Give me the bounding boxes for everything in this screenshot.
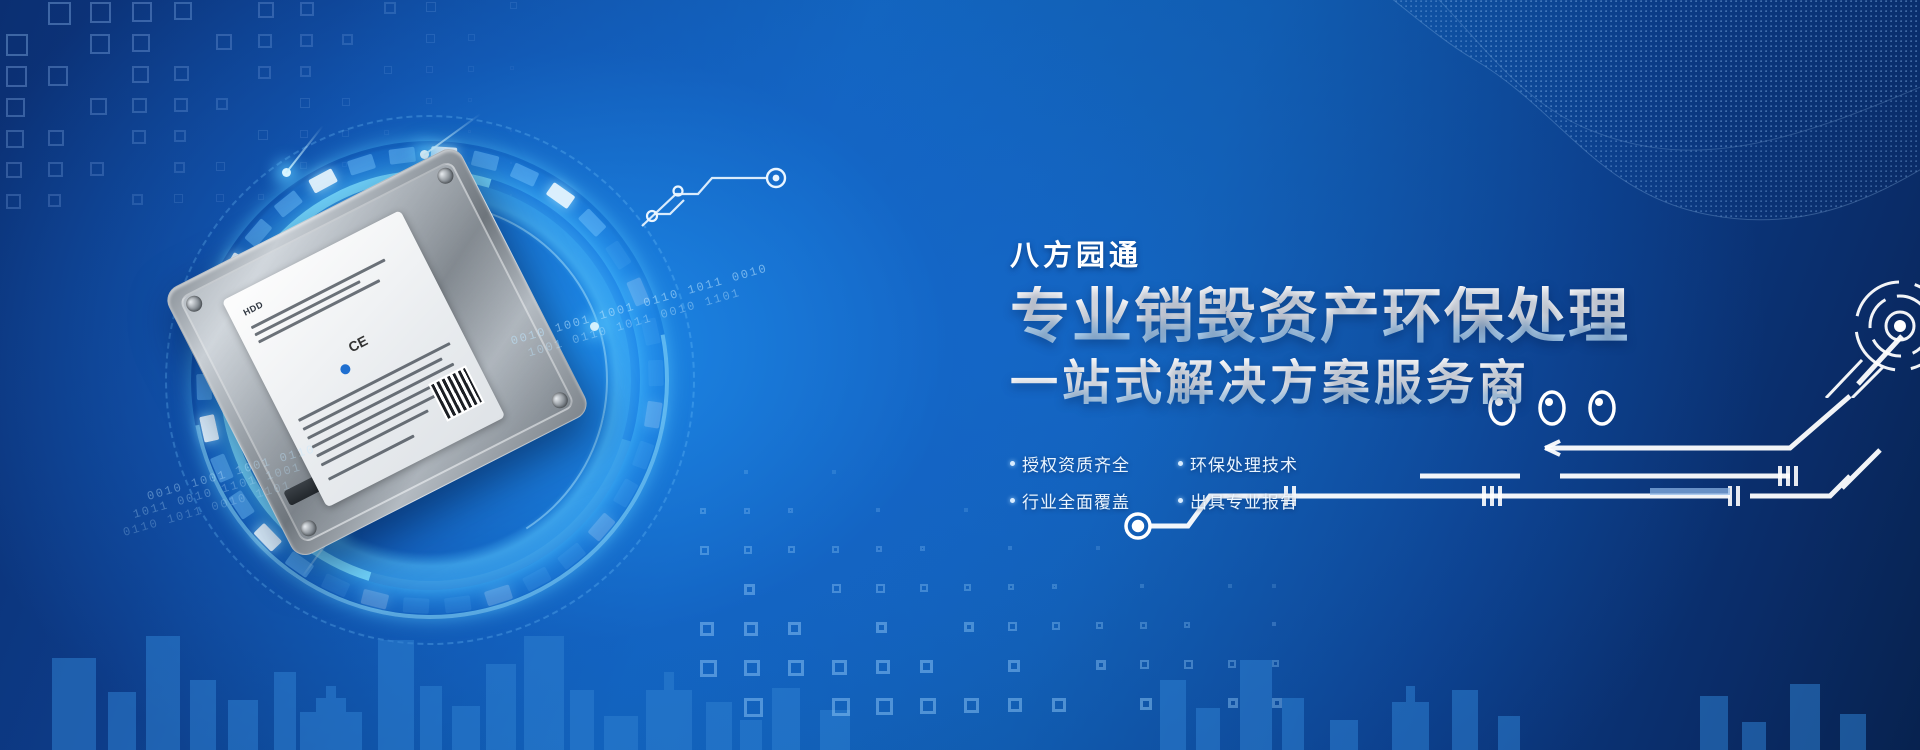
ring-tick xyxy=(648,360,664,386)
drive-label-brand: HDD xyxy=(242,299,265,317)
promo-banner: HDD CE 0010 1001 1001 0110 1011 0010 100… xyxy=(0,0,1920,750)
feature-label: 出具专业报告 xyxy=(1190,488,1298,513)
dot-tile xyxy=(1228,698,1238,708)
square-tile xyxy=(6,66,27,87)
dot-tile xyxy=(744,546,752,554)
dot-tile xyxy=(832,546,839,553)
dot-tile xyxy=(744,622,758,636)
banner-headline: 专业销毁资产环保处理 xyxy=(1010,286,1730,348)
square-tile xyxy=(90,98,107,115)
banner-copy: 八方园通 专业销毁资产环保处理 一站式解决方案服务商 授权资质齐全环保处理技术行… xyxy=(1010,232,1730,513)
feature-label: 环保处理技术 xyxy=(1190,451,1298,476)
square-tile xyxy=(90,2,111,23)
feature-label: 行业全面覆盖 xyxy=(1022,488,1130,513)
square-tile xyxy=(132,2,152,22)
dot-tile xyxy=(920,698,936,714)
dot-tile xyxy=(1052,698,1066,712)
dot-tile xyxy=(876,546,882,552)
dot-tile xyxy=(744,470,748,474)
square-tile xyxy=(174,2,192,20)
square-tile xyxy=(6,162,22,178)
dot-tile xyxy=(788,508,793,513)
dot-tile xyxy=(832,698,850,716)
dot-tile xyxy=(1140,584,1144,588)
ring-tick xyxy=(308,168,338,194)
dot-tile xyxy=(788,660,804,676)
feature-item: 行业全面覆盖 xyxy=(1010,488,1158,513)
bullet-icon xyxy=(1178,461,1183,466)
dot-tile xyxy=(1008,622,1017,631)
dot-tile xyxy=(1096,660,1106,670)
ring-tick xyxy=(388,147,416,165)
ring-tick xyxy=(605,240,632,270)
square-tile xyxy=(216,34,232,50)
dot-tile xyxy=(1096,546,1100,550)
dot-tile xyxy=(920,660,933,673)
dot-tile xyxy=(920,546,925,551)
square-tile xyxy=(510,66,514,70)
dot-tile xyxy=(788,546,795,553)
ring-tick xyxy=(444,595,472,613)
edge-ring-decoration xyxy=(1822,248,1920,398)
ring-tick xyxy=(210,453,234,483)
dot-tile xyxy=(1184,660,1193,669)
ring-tick xyxy=(228,490,255,520)
ring-tick xyxy=(578,208,607,237)
square-tile xyxy=(300,2,314,16)
dot-tile xyxy=(876,622,887,633)
dot-tile xyxy=(744,698,763,717)
square-tile xyxy=(6,130,24,148)
square-tile xyxy=(468,66,474,72)
feature-item: 授权资质齐全 xyxy=(1010,451,1158,476)
dot-tile xyxy=(876,584,885,593)
ring-tick xyxy=(471,150,500,171)
dot-tile xyxy=(832,470,836,474)
dot-tile xyxy=(832,660,847,675)
square-tile xyxy=(6,194,21,209)
connector-line-decoration xyxy=(640,160,820,230)
dot-tile xyxy=(1140,622,1147,629)
ring-tick xyxy=(626,277,650,307)
ring-tick xyxy=(360,589,389,610)
ring-tick xyxy=(557,542,587,570)
dot-tile xyxy=(832,584,841,593)
dot-tile xyxy=(876,660,890,674)
ring-tick xyxy=(403,597,430,614)
dot-tile xyxy=(1052,622,1060,630)
square-tile xyxy=(426,34,435,43)
square-tile xyxy=(174,66,189,81)
dot-tile xyxy=(1228,584,1232,588)
square-tile xyxy=(48,130,64,146)
dot-tile xyxy=(920,584,928,592)
dot-tile xyxy=(744,584,755,595)
square-tile xyxy=(426,2,436,12)
square-tile xyxy=(48,194,61,207)
dot-tile xyxy=(1228,660,1236,668)
square-tile xyxy=(48,162,63,177)
ring-tick xyxy=(522,566,552,592)
square-tile xyxy=(384,66,392,74)
dot-tile xyxy=(964,584,971,591)
square-tile xyxy=(426,66,433,73)
dot-tile xyxy=(876,698,893,715)
ring-tick xyxy=(587,512,615,542)
dot-tile xyxy=(1272,660,1279,667)
square-tile xyxy=(384,2,396,14)
ring-tick xyxy=(484,584,513,606)
square-tile xyxy=(48,66,68,86)
dot-tile xyxy=(1008,660,1020,672)
square-tile xyxy=(258,2,274,18)
square-tile xyxy=(6,34,28,56)
dot-tile xyxy=(1140,660,1149,669)
square-tile xyxy=(90,162,104,176)
ring-tick xyxy=(510,162,540,186)
brand-kicker: 八方园通 xyxy=(1010,232,1730,274)
square-tile xyxy=(510,2,517,9)
square-tile xyxy=(132,66,149,83)
dot-tile xyxy=(1052,584,1057,589)
feature-item: 出具专业报告 xyxy=(1178,488,1326,513)
dot-tile xyxy=(744,508,750,514)
feature-list: 授权资质齐全环保处理技术行业全面覆盖出具专业报告 xyxy=(1010,451,1730,513)
ring-tick xyxy=(347,154,376,176)
ring-tick xyxy=(546,182,576,209)
square-tile xyxy=(258,34,272,48)
bullet-icon xyxy=(1010,461,1015,466)
dot-tile xyxy=(788,622,801,635)
square-tile xyxy=(48,2,71,25)
feature-label: 授权资质齐全 xyxy=(1022,451,1130,476)
dot-tile xyxy=(1272,622,1276,626)
feature-item: 环保处理技术 xyxy=(1178,451,1326,476)
dot-tile xyxy=(1008,546,1012,550)
bullet-icon xyxy=(1010,498,1015,503)
dot-tile xyxy=(1008,584,1014,590)
dot-tile xyxy=(1272,584,1276,588)
ring-tick xyxy=(632,440,655,470)
ring-tick xyxy=(273,190,303,218)
wave-mesh-decoration xyxy=(1240,0,1920,270)
dot-tile xyxy=(1272,698,1282,708)
ring-tick xyxy=(321,573,351,597)
spark-node-3 xyxy=(590,322,599,331)
dot-tile xyxy=(964,622,974,632)
square-tile xyxy=(258,66,271,79)
square-tile xyxy=(300,66,311,77)
square-tile xyxy=(132,34,150,52)
ring-tick xyxy=(613,478,639,508)
square-tile xyxy=(6,98,25,117)
dot-tile xyxy=(744,660,760,676)
square-tile xyxy=(342,34,353,45)
dot-tile xyxy=(1140,698,1152,710)
dot-tile xyxy=(1008,698,1022,712)
square-tile xyxy=(300,34,313,47)
square-tile xyxy=(468,34,475,41)
banner-subheadline: 一站式解决方案服务商 xyxy=(1010,358,1730,411)
bullet-icon xyxy=(1178,498,1183,503)
ring-tick xyxy=(253,523,282,552)
dot-tile xyxy=(1184,622,1190,628)
dot-tile xyxy=(964,698,979,713)
dot-tile xyxy=(876,508,880,512)
square-tile xyxy=(90,34,110,54)
dot-tile xyxy=(964,508,968,512)
dot-tile xyxy=(1096,622,1103,629)
